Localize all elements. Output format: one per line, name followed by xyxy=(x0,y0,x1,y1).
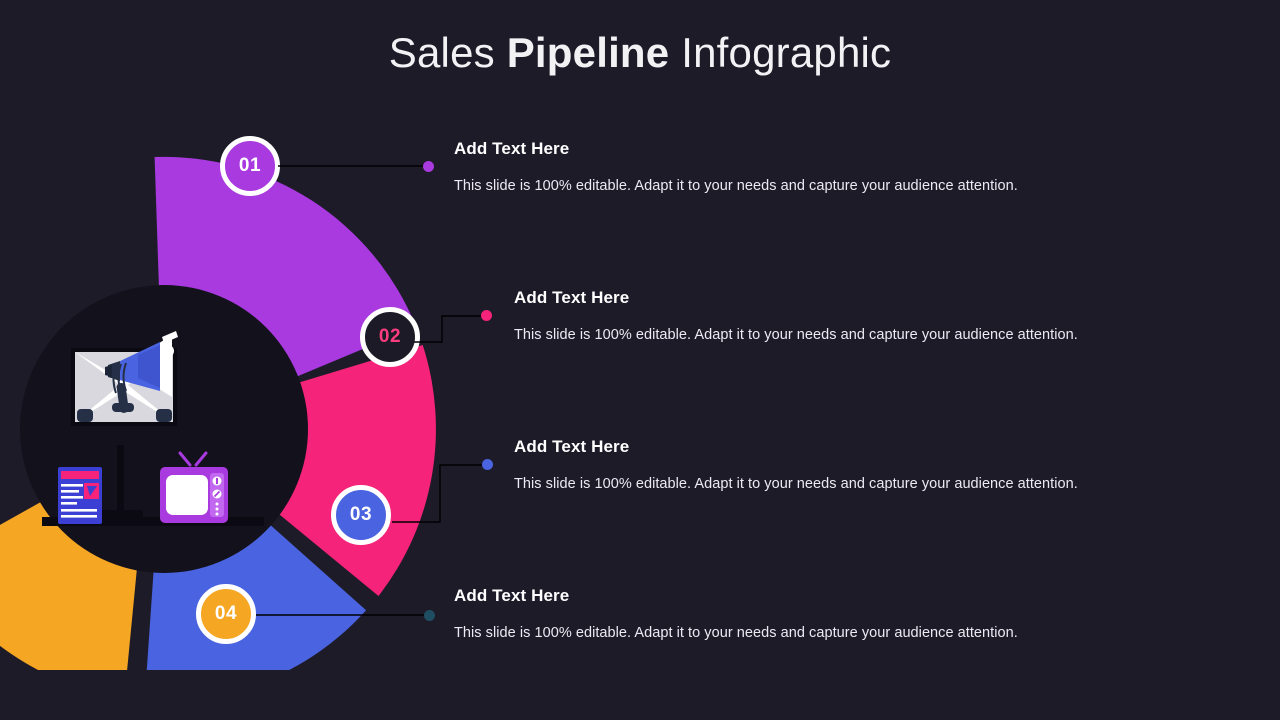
connector-line-02 xyxy=(408,300,498,360)
step-body-04: This slide is 100% editable. Adapt it to… xyxy=(454,623,1018,643)
step-badge-03-label: 03 xyxy=(350,504,372,526)
title-prefix: Sales xyxy=(389,29,507,76)
step-heading-03: Add Text Here xyxy=(514,436,1078,458)
step-badge-04[interactable]: 04 xyxy=(196,584,256,644)
step-text-block-02: Add Text Here This slide is 100% editabl… xyxy=(514,287,1078,345)
title-bold: Pipeline xyxy=(507,29,670,76)
step-badge-03[interactable]: 03 xyxy=(331,485,391,545)
connector-line-01 xyxy=(270,150,440,190)
step-badge-02-label: 02 xyxy=(379,326,401,348)
step-body-01: This slide is 100% editable. Adapt it to… xyxy=(454,176,1018,196)
title-suffix: Infographic xyxy=(669,29,891,76)
billboard-stand-pole xyxy=(117,445,124,517)
connector-dot-01 xyxy=(423,161,434,172)
step-heading-02: Add Text Here xyxy=(514,287,1078,309)
connector-dot-02 xyxy=(481,310,492,321)
connector-line-04 xyxy=(250,600,440,640)
step-body-02: This slide is 100% editable. Adapt it to… xyxy=(514,325,1078,345)
step-text-block-04: Add Text Here This slide is 100% editabl… xyxy=(454,585,1018,643)
step-text-block-01: Add Text Here This slide is 100% editabl… xyxy=(454,138,1018,196)
step-badge-01-label: 01 xyxy=(239,155,261,177)
step-heading-01: Add Text Here xyxy=(454,138,1018,160)
retro-tv-icon xyxy=(160,453,228,523)
newspaper-icon xyxy=(58,467,102,524)
connector-dot-04 xyxy=(424,610,435,621)
page-title: Sales Pipeline Infographic xyxy=(0,26,1280,80)
billboard-stand-base xyxy=(98,510,143,518)
slide-canvas: Sales Pipeline Infographic xyxy=(0,0,1280,720)
step-badge-04-label: 04 xyxy=(215,603,237,625)
step-body-03: This slide is 100% editable. Adapt it to… xyxy=(514,474,1078,494)
connector-dot-03 xyxy=(482,459,493,470)
step-text-block-03: Add Text Here This slide is 100% editabl… xyxy=(514,436,1078,494)
marketing-illustration xyxy=(20,285,308,573)
step-heading-04: Add Text Here xyxy=(454,585,1018,607)
